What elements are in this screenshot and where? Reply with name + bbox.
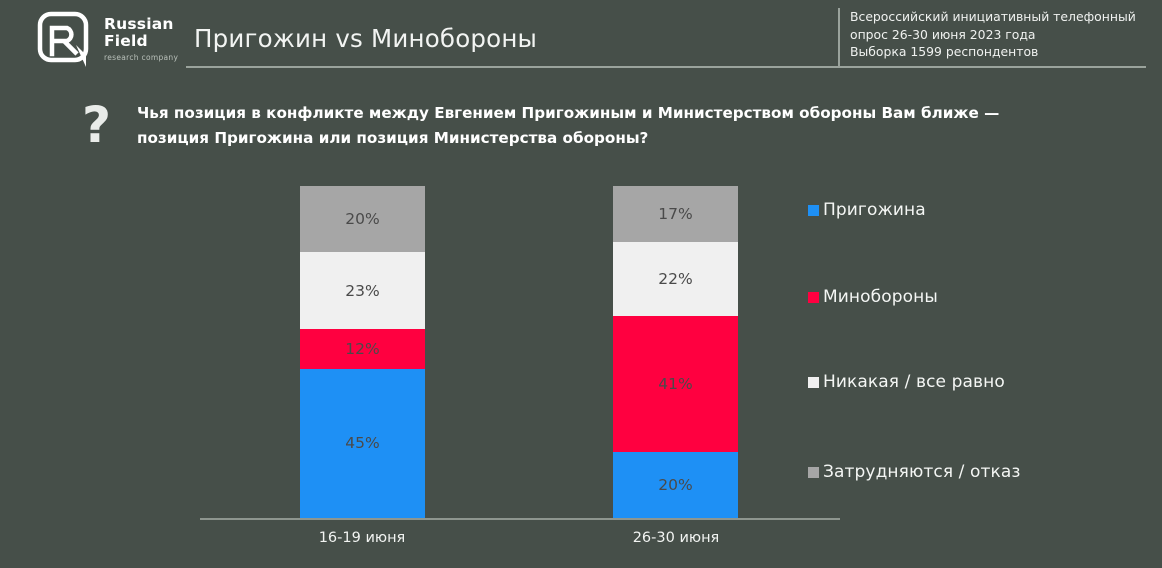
legend-swatch-icon xyxy=(808,292,819,303)
bar-segment-label: 20% xyxy=(658,476,692,494)
bar-segment-label: 17% xyxy=(658,205,692,223)
legend-item[interactable]: Пригожина xyxy=(808,200,926,220)
legend-label: Минобороны xyxy=(823,287,938,307)
legend-swatch-icon xyxy=(808,205,819,216)
legend-label: Пригожина xyxy=(823,200,926,220)
bar-segment: 20% xyxy=(613,452,738,518)
category-label: 26-30 июня xyxy=(556,530,796,546)
stacked-bar-chart: 20%23%12%45% 17%22%41%20% 16-19 июня 26-… xyxy=(0,0,1162,568)
legend-item[interactable]: Никакая / все равно xyxy=(808,372,1005,392)
bar-stack: 20%23%12%45% xyxy=(300,186,425,518)
chart-axis-line xyxy=(200,518,840,520)
legend-item[interactable]: Затрудняются / отказ xyxy=(808,462,1021,482)
bar-segment: 23% xyxy=(300,252,425,328)
bar-segment: 17% xyxy=(613,186,738,242)
legend-item[interactable]: Минобороны xyxy=(808,287,938,307)
bar-segment-label: 20% xyxy=(345,210,379,228)
category-label: 16-19 июня xyxy=(242,530,482,546)
legend-label: Никакая / все равно xyxy=(823,372,1005,392)
bar-segment-label: 22% xyxy=(658,270,692,288)
legend-swatch-icon xyxy=(808,377,819,388)
bar-segment-label: 41% xyxy=(658,375,692,393)
bar-segment-label: 45% xyxy=(345,434,379,452)
bar-segment: 20% xyxy=(300,186,425,252)
bar-segment: 45% xyxy=(300,369,425,518)
bar-segment: 41% xyxy=(613,316,738,452)
bar-segment-label: 23% xyxy=(345,282,379,300)
bar-segment-label: 12% xyxy=(345,340,379,358)
bar-stack: 17%22%41%20% xyxy=(613,186,738,518)
bar-segment: 12% xyxy=(300,329,425,369)
legend-label: Затрудняются / отказ xyxy=(823,462,1021,482)
legend-swatch-icon xyxy=(808,467,819,478)
bar-segment: 22% xyxy=(613,242,738,315)
